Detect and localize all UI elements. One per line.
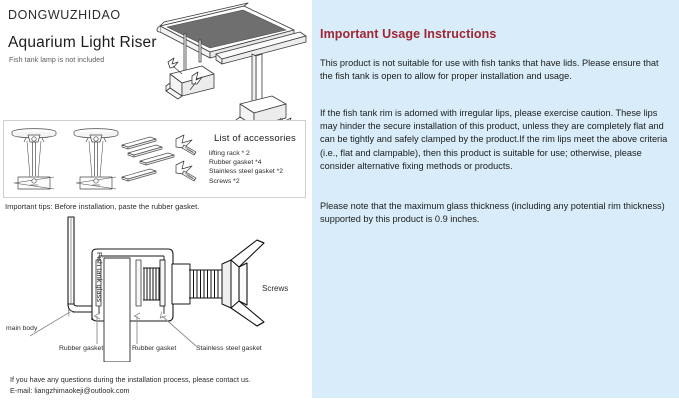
instructions-paragraph: If the fish tank rim is adorned with irr… — [320, 107, 668, 173]
accessories-item: Stainless steel gasket *2 — [209, 167, 283, 176]
brand-name: DONGWUZHIDAO — [8, 8, 121, 22]
accessories-item: lifting rack * 2 — [209, 149, 283, 158]
label-main-body: main body — [6, 325, 37, 332]
contact-block: If you have any questions during the ins… — [10, 374, 251, 396]
accessories-item: Screws *2 — [209, 177, 283, 186]
label-rubber-gasket-left: Rubber gasket — [59, 345, 103, 352]
important-usage-instructions-panel: Important Usage Instructions This produc… — [312, 0, 679, 398]
label-screws: Screws — [262, 284, 288, 293]
accessories-panel: List of accessories lifting rack * 2 Rub… — [3, 120, 306, 198]
accessories-illustration — [4, 121, 200, 197]
label-rubber-gasket-right: Rubber gasket — [132, 345, 176, 352]
instructions-paragraph: Please note that the maximum glass thick… — [320, 200, 668, 226]
important-tip-text: Important tips: Before installation, pas… — [5, 202, 199, 211]
accessories-list-title: List of accessories — [214, 133, 296, 144]
light-riser-illustration — [140, 0, 312, 120]
instructions-heading: Important Usage Instructions — [320, 27, 496, 41]
page-title: Aquarium Light Riser — [8, 34, 157, 52]
label-fish-tank-glass: Fish tank glass — [95, 252, 104, 302]
product-info-column: DONGWUZHIDAO Aquarium Light Riser Fish t… — [0, 0, 312, 406]
instructions-paragraph: This product is not suitable for use wit… — [320, 57, 668, 83]
label-stainless-steel-gasket: Stainless steel gasket — [196, 345, 262, 352]
accessories-item-list: lifting rack * 2 Rubber gasket *4 Stainl… — [209, 149, 283, 186]
contact-email-line: E-mail: liangzhimaokeji@outlook.com — [10, 385, 251, 396]
accessories-item: Rubber gasket *4 — [209, 158, 283, 167]
product-subtitle: Fish tank lamp is not included — [9, 57, 104, 64]
contact-question-line: If you have any questions during the ins… — [10, 374, 251, 385]
